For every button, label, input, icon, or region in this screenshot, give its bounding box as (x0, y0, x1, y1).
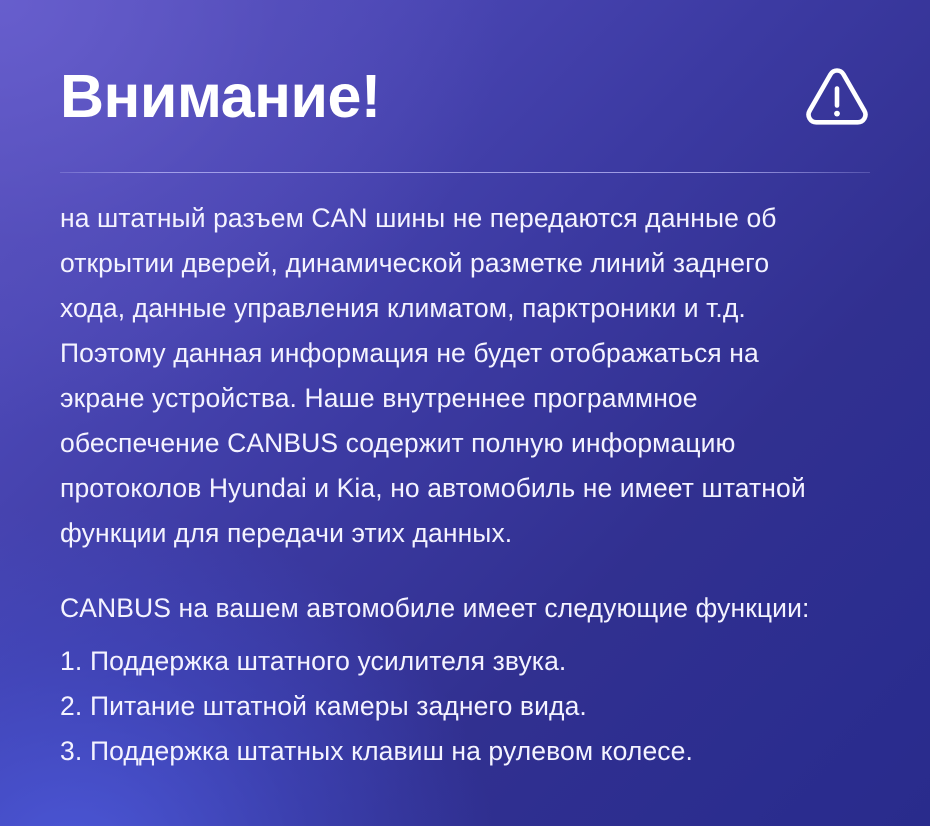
features-list: 1.Поддержка штатного усилителя звука. 2.… (60, 639, 890, 774)
notice-line: хода, данные управления климатом, парктр… (60, 286, 890, 331)
list-item-number: 1. (60, 639, 90, 684)
list-item-label: Питание штатной камеры заднего вида. (90, 691, 587, 721)
list-item-label: Поддержка штатных клавиш на рулевом коле… (90, 736, 693, 766)
list-item-number: 2. (60, 684, 90, 729)
list-item-number: 3. (60, 729, 90, 774)
list-item: 3.Поддержка штатных клавиш на рулевом ко… (60, 729, 890, 774)
notice-line: экране устройства. Наше внутреннее прогр… (60, 376, 890, 421)
page-title: Внимание! (60, 58, 381, 134)
notice-line: функции для передачи этих данных. (60, 511, 890, 556)
list-item: 2.Питание штатной камеры заднего вида. (60, 684, 890, 729)
notice-paragraph: на штатный разъем CAN шины не передаются… (60, 196, 890, 556)
features-intro: CANBUS на вашем автомобиле имеет следующ… (60, 586, 890, 631)
notice-line: открытии дверей, динамической разметке л… (60, 241, 890, 286)
banner-header: Внимание! (60, 58, 870, 134)
notice-line: Поэтому данная информация не будет отобр… (60, 331, 890, 376)
notice-line: протоколов Hyundai и Kia, но автомобиль … (60, 466, 890, 511)
list-item-label: Поддержка штатного усилителя звука. (90, 646, 566, 676)
banner-content: на штатный разъем CAN шины не передаются… (60, 196, 890, 774)
features-section: CANBUS на вашем автомобиле имеет следующ… (60, 586, 890, 774)
notice-line: обеспечение CANBUS содержит полную инфор… (60, 421, 890, 466)
warning-triangle-icon (804, 64, 870, 126)
header-divider (60, 172, 870, 173)
warning-banner: Внимание! на штатный разъем CAN шины не … (0, 0, 930, 826)
notice-line: на штатный разъем CAN шины не передаются… (60, 196, 890, 241)
list-item: 1.Поддержка штатного усилителя звука. (60, 639, 890, 684)
